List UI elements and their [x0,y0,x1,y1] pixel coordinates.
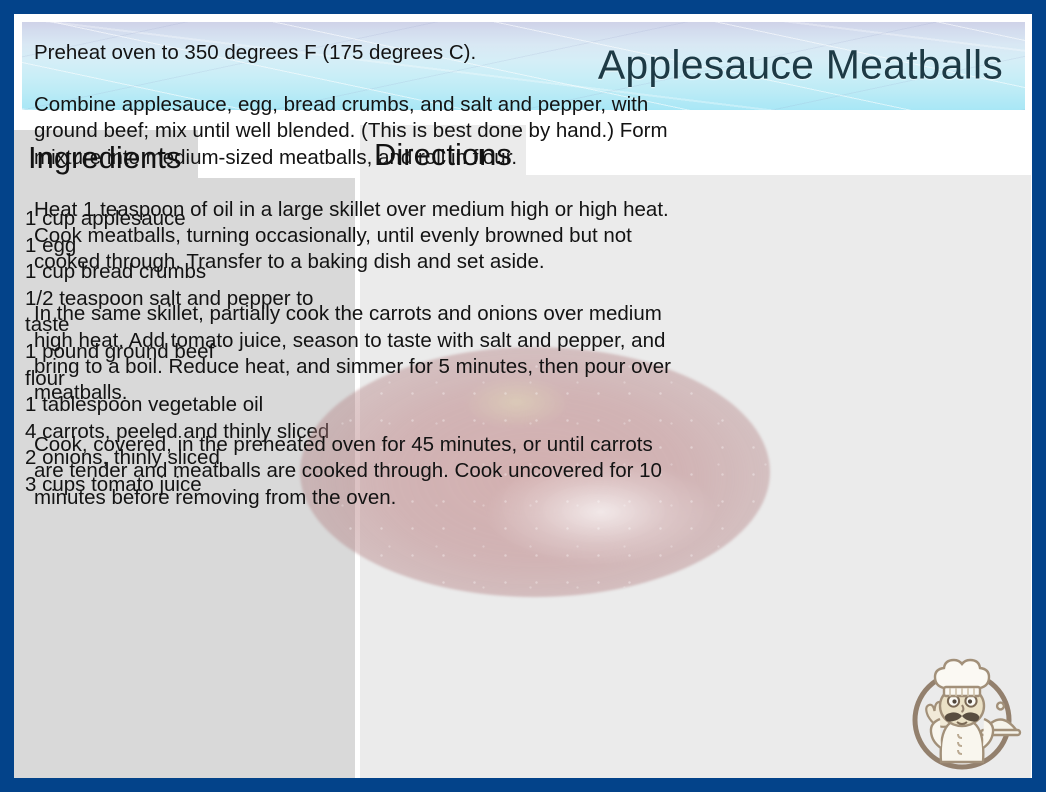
direction-step: In the same skillet, partially cook the … [34,301,684,406]
direction-step: Heat 1 teaspoon of oil in a large skille… [34,197,684,276]
direction-step: Combine applesauce, egg, bread crumbs, a… [34,92,684,171]
chef-mascot-logo-icon [898,654,1026,778]
direction-step: Cook, covered, in the preheated oven for… [34,432,684,511]
directions-steps: Preheat oven to 350 degrees F (175 degre… [34,40,684,511]
direction-step: Preheat oven to 350 degrees F (175 degre… [34,40,684,66]
recipe-slide: Applesauce Meatballs Ingredients 1 cup a… [0,0,1046,792]
slide-inner-surface: Applesauce Meatballs Ingredients 1 cup a… [14,14,1032,778]
